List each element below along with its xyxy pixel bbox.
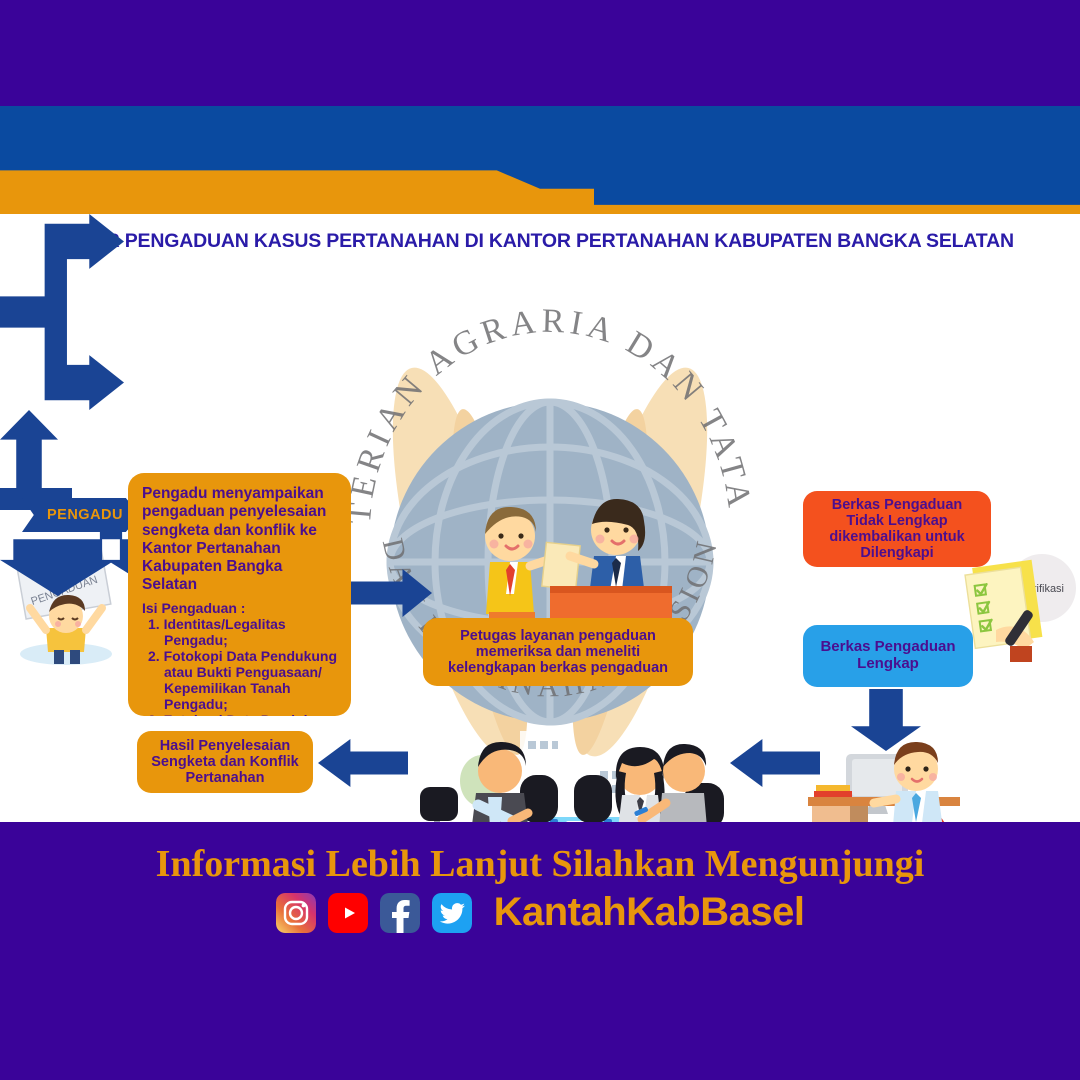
box-hasil-penyelesaian: Hasil Penyelesaian Sengketa dan Konflik … [137, 731, 313, 793]
arrow-return-up [0, 410, 58, 488]
arrow-intake-to-petugas [350, 569, 432, 617]
youtube-icon[interactable] [328, 893, 368, 933]
page-title: ALUR PENGADUAN KASUS PERTANAHAN DI KANTO… [0, 230, 1080, 253]
footer-title: Informasi Lebih Lanjut Silahkan Mengunju… [0, 842, 1080, 886]
box-intake-heading: Pengadu menyampaikan pengaduan penyelesa… [142, 485, 341, 595]
illustration-officer-desk [808, 719, 1018, 822]
box-berkas-tidak-lengkap: Berkas Pengaduan Tidak Lengkap dikembali… [803, 491, 991, 567]
box-intake-subheading: Isi Pengaduan : [142, 600, 245, 616]
illustration-mediation-meeting [416, 709, 752, 822]
poster-root: ALUR PENGADUAN KASUS PERTANAHAN DI KANTO… [0, 0, 1080, 1080]
pengadu-banner: PENGADU [22, 498, 140, 532]
social-handle: KantahKabBasel [494, 890, 805, 935]
footer: Informasi Lebih Lanjut Silahkan Mengunju… [0, 822, 1080, 1080]
list-item: 2. Fotokopi Data Pendukung atau Bukti Pe… [142, 648, 341, 712]
box-intake: Pengadu menyampaikan pengaduan penyelesa… [128, 473, 351, 716]
arrow-mediasi-to-hasil [318, 739, 408, 787]
diagram-stage: ALUR PENGADUAN KASUS PERTANAHAN DI KANTO… [0, 214, 1080, 822]
instagram-icon[interactable] [276, 893, 316, 933]
pengadu-banner-label: PENGADU [39, 507, 123, 523]
svg-text:KEMENTERIAN AGRARIA DAN TATA R: KEMENTERIAN AGRARIA DAN TATA RUANG [340, 232, 759, 525]
facebook-icon[interactable] [380, 893, 420, 933]
watermark-arc-top: KEMENTERIAN AGRARIA DAN TATA RUANG [340, 232, 759, 525]
box-berkas-lengkap: Berkas Pengaduan Lengkap [803, 625, 973, 687]
social-row: KantahKabBasel [0, 890, 1080, 935]
box-petugas-periksa: Petugas layanan pengaduan memeriksa dan … [423, 618, 693, 686]
header-band-purple [0, 0, 1080, 106]
twitter-icon[interactable] [432, 893, 472, 933]
list-item: 1. Identitas/Legalitas Pengadu; [142, 616, 341, 648]
